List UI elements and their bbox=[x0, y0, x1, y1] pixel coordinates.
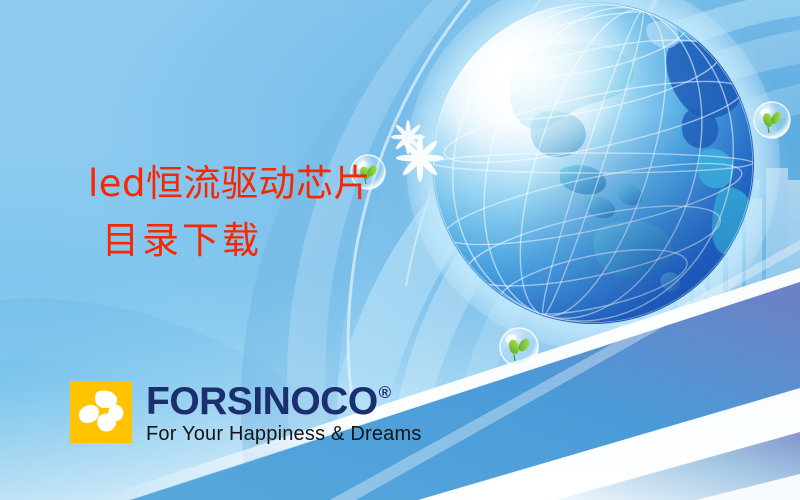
flower-burst-large bbox=[396, 134, 444, 182]
logo-wordmark-label: FORSINOCO bbox=[146, 382, 378, 422]
promo-banner: led恒流驱动芯片 目录下载 FORSINOCO ® For Your Happ… bbox=[0, 0, 800, 500]
headline-line-1: led恒流驱动芯片 bbox=[88, 163, 371, 204]
headline-line-2: 目录下载 bbox=[102, 220, 371, 261]
bubble-leaf-right bbox=[754, 102, 790, 138]
forsinoco-flower-icon bbox=[70, 381, 132, 443]
logo-tagline: For Your Happiness & Dreams bbox=[146, 423, 422, 445]
logo-text-block: FORSINOCO ® For Your Happiness & Dreams bbox=[146, 381, 422, 445]
company-logo: FORSINOCO ® For Your Happiness & Dreams bbox=[70, 381, 422, 445]
bubble-leaf-bottom bbox=[500, 328, 538, 366]
registered-trademark-icon: ® bbox=[379, 384, 391, 401]
headline-text: led恒流驱动芯片 目录下载 bbox=[88, 163, 371, 262]
logo-wordmark: FORSINOCO ® bbox=[146, 382, 422, 422]
